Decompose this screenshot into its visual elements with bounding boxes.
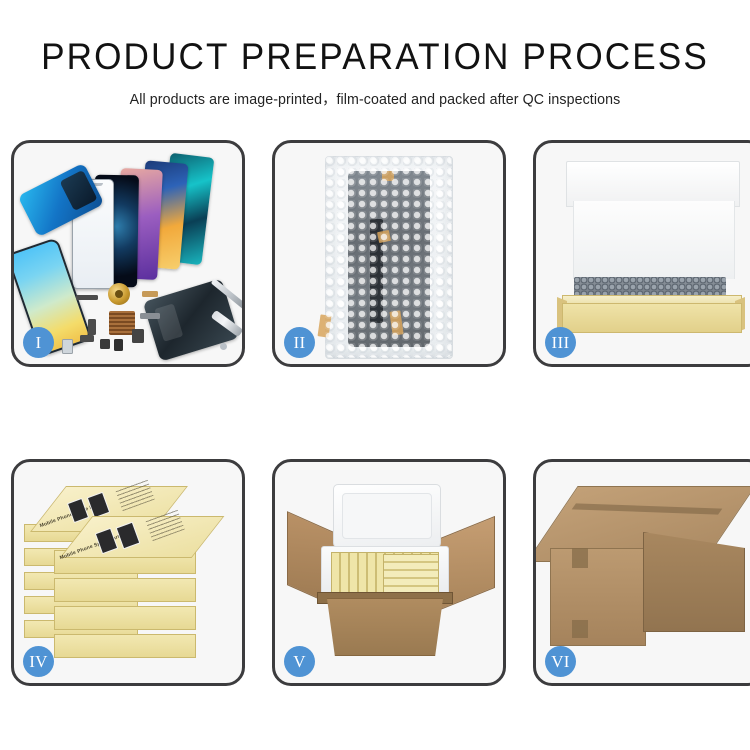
carton-tape-upper [572,548,588,568]
screw-part [220,343,227,350]
process-step-grid: I II III [11,140,741,686]
page-subtitle: All products are image-printed，film-coat… [8,88,743,109]
small-part-1 [76,295,98,300]
small-part-8 [140,313,160,319]
header: PRODUCT PREPARATION PROCESS All products… [0,0,750,109]
bubble-wrap-bag [325,156,453,359]
stacked-box-r2 [54,578,196,602]
process-step-panel-2: II [272,140,506,367]
small-part-3 [88,319,96,335]
carton-face-right [643,532,745,632]
step-badge-2: II [284,327,315,358]
small-part-9 [62,339,73,354]
step-badge-4: IV [23,646,54,677]
small-part-7 [132,329,144,343]
process-step-panel-4: Mobile Phone Spare Parts Mobile Phone Sp… [11,459,245,686]
carton-tape-lower [572,620,588,638]
process-step-panel-6: VI [533,459,750,686]
process-step-panel-5: V [272,459,506,686]
small-part-4 [80,335,94,342]
carton-front-panel [319,598,451,656]
foam-cooler-lid [333,484,441,548]
page-title: PRODUCT PREPARATION PROCESS [19,38,732,77]
box-front-panel [562,303,742,333]
step-badge-5: V [284,646,315,677]
small-part-5 [100,339,110,349]
foam-liner [573,201,735,279]
process-step-panel-3: III [533,140,750,367]
carton-face-left [550,548,646,646]
tape-strip-top [382,171,394,181]
inner-yellow-boxes-stack [383,554,439,594]
step-badge-1: I [23,327,54,358]
small-part-6 [114,339,123,351]
stacked-box-r3 [54,606,196,630]
process-step-panel-1: I [11,140,245,367]
step-badge-3: III [545,327,576,358]
stacked-box-r4 [54,634,196,658]
speaker-component [108,283,130,305]
small-part-2 [142,291,158,297]
wrapped-screen-assembly [348,171,430,347]
step-badge-6: VI [545,646,576,677]
